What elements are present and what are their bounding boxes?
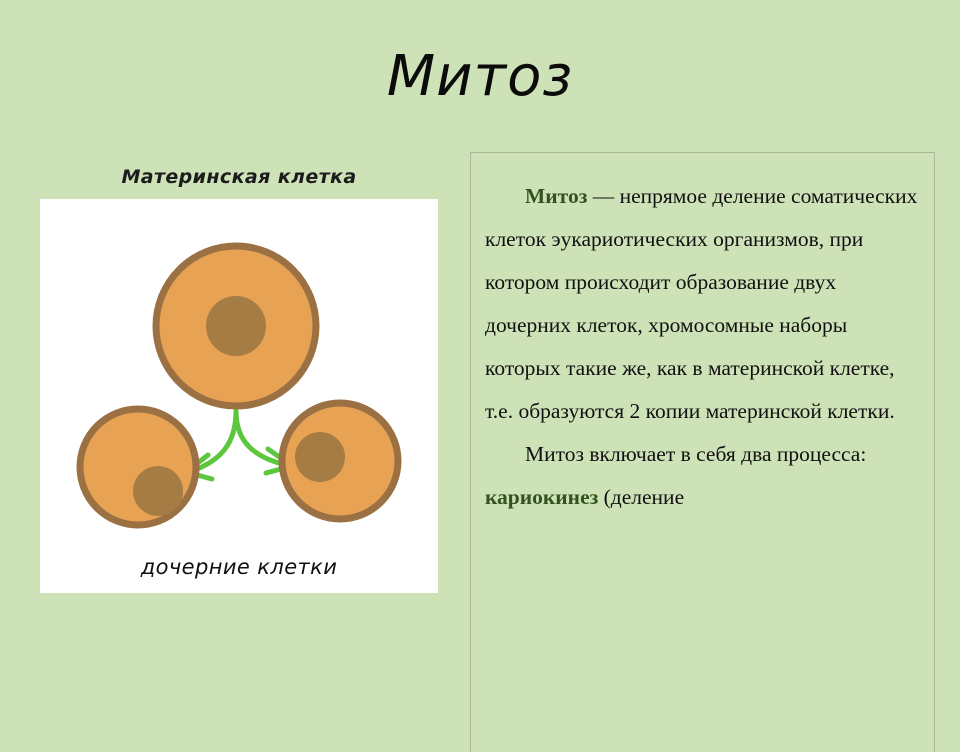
diagram-canvas: дочерние клетки <box>40 199 438 593</box>
page-title: Митоз <box>0 48 960 107</box>
definition-text-body: Митоз — непрямое деление соматических кл… <box>471 153 934 519</box>
daughter-cell-right-nucleus <box>295 432 345 482</box>
mitosis-cell-illustration <box>40 199 438 593</box>
daughter-cells-label: дочерние клетки <box>40 555 438 579</box>
parent-cell <box>156 246 316 406</box>
parent-cell-label: Материнская клетка <box>40 162 438 192</box>
paragraph-processes: Митоз включает в себя два процесса: кари… <box>485 433 918 519</box>
term-mitoz: Митоз <box>525 184 587 208</box>
daughter-cell-left-nucleus <box>133 466 183 516</box>
slide-root: Митоз Материнская клетка <box>0 0 960 720</box>
daughter-cell-left-membrane <box>80 409 196 525</box>
division-arrows-group <box>186 411 292 479</box>
daughter-cell-right <box>282 403 398 519</box>
term-kariokinez: кариокинез <box>485 485 598 509</box>
paragraph-definition: Митоз — непрямое деление соматических кл… <box>485 175 918 433</box>
mitosis-diagram-block: Материнская клетка <box>40 162 438 593</box>
definition-rest: — непрямое деление соматических клеток э… <box>485 184 917 423</box>
parent-cell-nucleus <box>206 296 266 356</box>
daughter-cell-left <box>80 409 196 525</box>
definition-text-panel: Митоз — непрямое деление соматических кл… <box>470 152 935 752</box>
processes-tail: (деление <box>598 485 684 509</box>
processes-lead: Митоз включает в себя два процесса: <box>525 442 866 466</box>
